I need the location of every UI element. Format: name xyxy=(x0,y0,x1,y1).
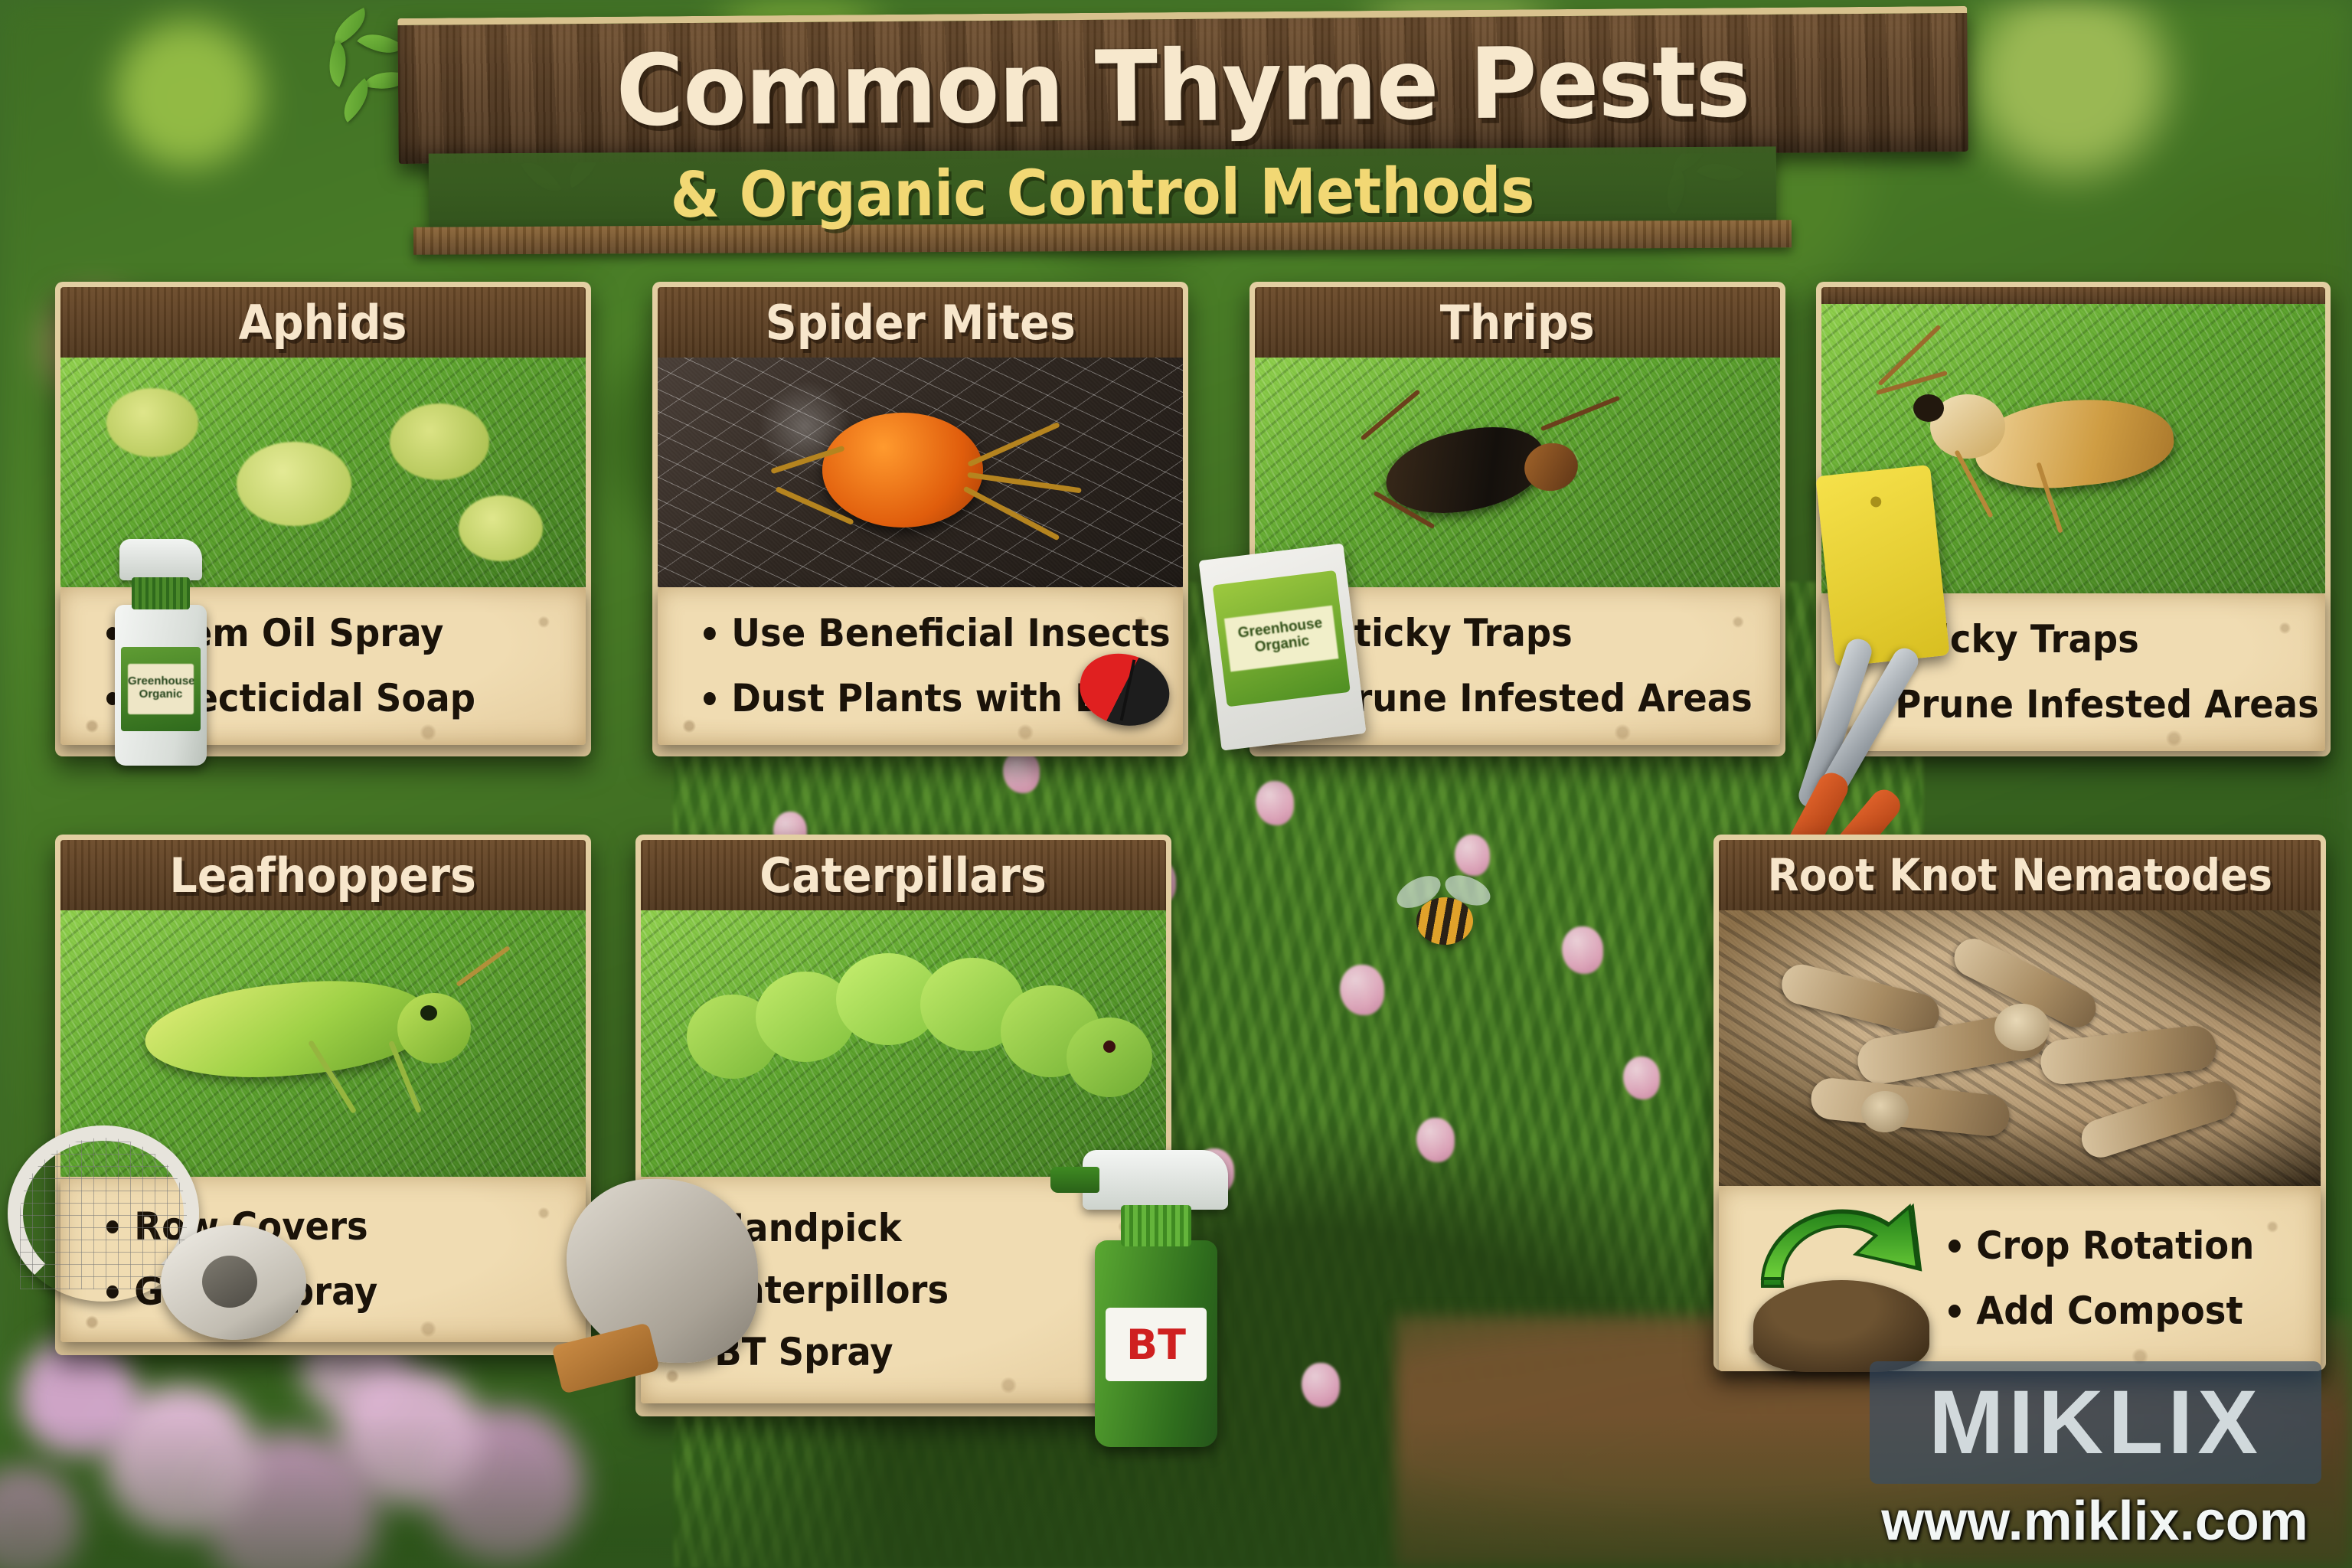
bee-icon xyxy=(1400,882,1491,955)
card-title-bar: Spider Mites xyxy=(658,287,1183,358)
brand-name: MIKLIX xyxy=(1929,1370,2262,1475)
card-title-bar xyxy=(1821,287,2325,304)
tip-item: Crop Rotation xyxy=(1949,1223,2276,1269)
ladybug-icon xyxy=(1080,655,1170,725)
bottle-label: Greenhouse Organic xyxy=(121,647,201,731)
card-title-bar: Root Knot Nematodes xyxy=(1719,840,2321,910)
thyme-blossom xyxy=(1623,1057,1660,1099)
whitefly-eye xyxy=(1913,394,1944,422)
caterpillar-head xyxy=(1067,1018,1152,1097)
bt-spray-bottle-icon: BT xyxy=(1095,1240,1217,1447)
seed-packet-icon: Greenhouse Organic xyxy=(1198,543,1366,750)
tip-item: Prune Infested Areas xyxy=(1867,682,2275,727)
page-subtitle: & Organic Control Methods xyxy=(496,147,1710,239)
spider-mite-body xyxy=(822,413,983,528)
tip-label: Prune Infested Areas xyxy=(1895,682,2319,727)
card-title: Caterpillars xyxy=(760,848,1047,903)
seed-packet-label-text: Greenhouse Organic xyxy=(1224,606,1339,672)
card-title: Thrips xyxy=(1440,295,1595,351)
card-title-bar: Leafhoppers xyxy=(60,840,586,910)
page-title: Common Thyme Pests xyxy=(445,15,1921,157)
spray-bottle-icon: Greenhouse Organic xyxy=(115,605,207,766)
tip-label: Crop Rotation xyxy=(1976,1223,2254,1269)
tip-item: Dust Plants with DE xyxy=(704,676,1131,721)
card-title: Aphids xyxy=(239,295,407,351)
row-cover-roll-icon xyxy=(161,1225,306,1340)
bottle-cap xyxy=(132,577,190,609)
tip-item: Prune Infested Areas xyxy=(1301,676,1728,721)
tip-label: Prune Infested Areas xyxy=(1328,676,1753,721)
bt-cap xyxy=(1121,1205,1191,1246)
tip-label: Add Compost xyxy=(1976,1289,2243,1334)
seed-packet-label: Greenhouse Organic xyxy=(1213,570,1351,707)
card-photo-root-knot-nematodes xyxy=(1719,910,2321,1186)
bt-label: BT xyxy=(1106,1308,1207,1381)
gloved-hand-icon xyxy=(567,1179,758,1363)
bee-body xyxy=(1416,897,1473,945)
thyme-blossom xyxy=(1455,835,1490,876)
card-title-bar: Aphids xyxy=(60,287,586,358)
card-photo-caterpillars xyxy=(641,910,1166,1177)
tip-item: Add Compost xyxy=(1949,1289,2276,1334)
caterpillar-eye xyxy=(1103,1040,1116,1053)
card-title-bar: Caterpillars xyxy=(641,840,1166,910)
thyme-blossom xyxy=(1340,965,1384,1015)
leafhopper-eye xyxy=(420,1005,437,1021)
thyme-blossom xyxy=(1562,926,1603,974)
yellow-sticky-trap-icon xyxy=(1815,465,1949,667)
tip-label: Sticky Traps xyxy=(1328,611,1573,656)
card-title: Spider Mites xyxy=(765,295,1075,351)
card-title: Leafhoppers xyxy=(170,848,477,903)
leafhopper-head xyxy=(397,993,471,1063)
root-knot-gall xyxy=(1861,1091,1909,1132)
card-title-bar: Thrips xyxy=(1255,287,1780,358)
bottle-trigger xyxy=(119,539,202,580)
bt-trigger xyxy=(1083,1150,1228,1210)
bottle-label-text: Greenhouse Organic xyxy=(128,664,194,714)
tip-label: Use Beneficial Insects xyxy=(731,611,1170,656)
tip-item: Use Beneficial Insects xyxy=(704,611,1131,656)
bt-nozzle xyxy=(1050,1167,1099,1193)
card-photo-spider-mites xyxy=(658,358,1183,587)
tip-item: Sticky Traps xyxy=(1301,611,1728,656)
thyme-blossom xyxy=(1416,1118,1455,1162)
tip-label: Dust Plants with DE xyxy=(731,676,1129,721)
brand-watermark: MIKLIX xyxy=(1870,1361,2321,1484)
root-knot-gall xyxy=(1994,1004,2050,1051)
thyme-blossom xyxy=(1302,1363,1340,1407)
card-title: Root Knot Nematodes xyxy=(1767,849,2272,901)
thyme-blossom xyxy=(1256,781,1294,825)
brand-url: www.miklix.com xyxy=(1873,1490,2317,1553)
compost-pile-icon xyxy=(1753,1280,1929,1372)
thyme-blossom xyxy=(1003,750,1040,793)
